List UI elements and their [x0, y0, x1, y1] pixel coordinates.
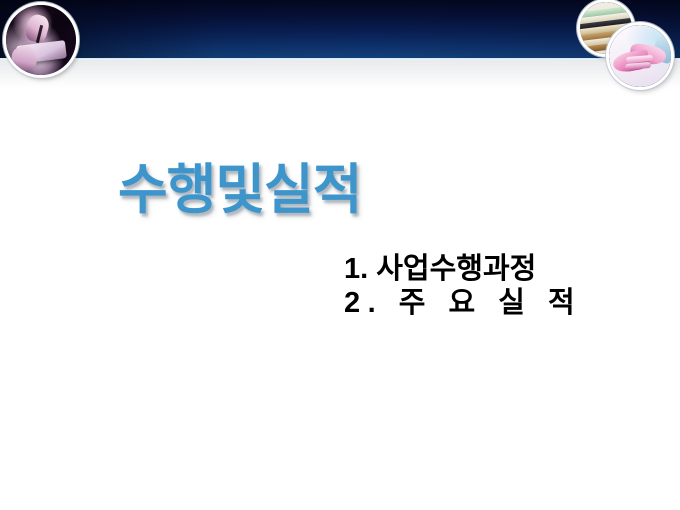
handshake-photo-inner — [609, 25, 671, 87]
slide-title: 수행및실적 — [118, 163, 361, 217]
header-band — [0, 0, 680, 58]
handshake-photo-icon — [609, 25, 671, 87]
agenda-list: 1. 사업수행과정 2. 주 요 실 적 — [344, 253, 582, 321]
presentation-slide: 수행및실적 1. 사업수행과정 2. 주 요 실 적 — [0, 0, 680, 510]
hands-writing-photo-inner — [6, 5, 76, 75]
header-fade-strip — [0, 60, 680, 90]
agenda-item-2: 2. 주 요 실 적 — [344, 287, 582, 321]
hands-writing-photo-icon — [6, 5, 76, 75]
agenda-item-1: 1. 사업수행과정 — [344, 253, 582, 287]
